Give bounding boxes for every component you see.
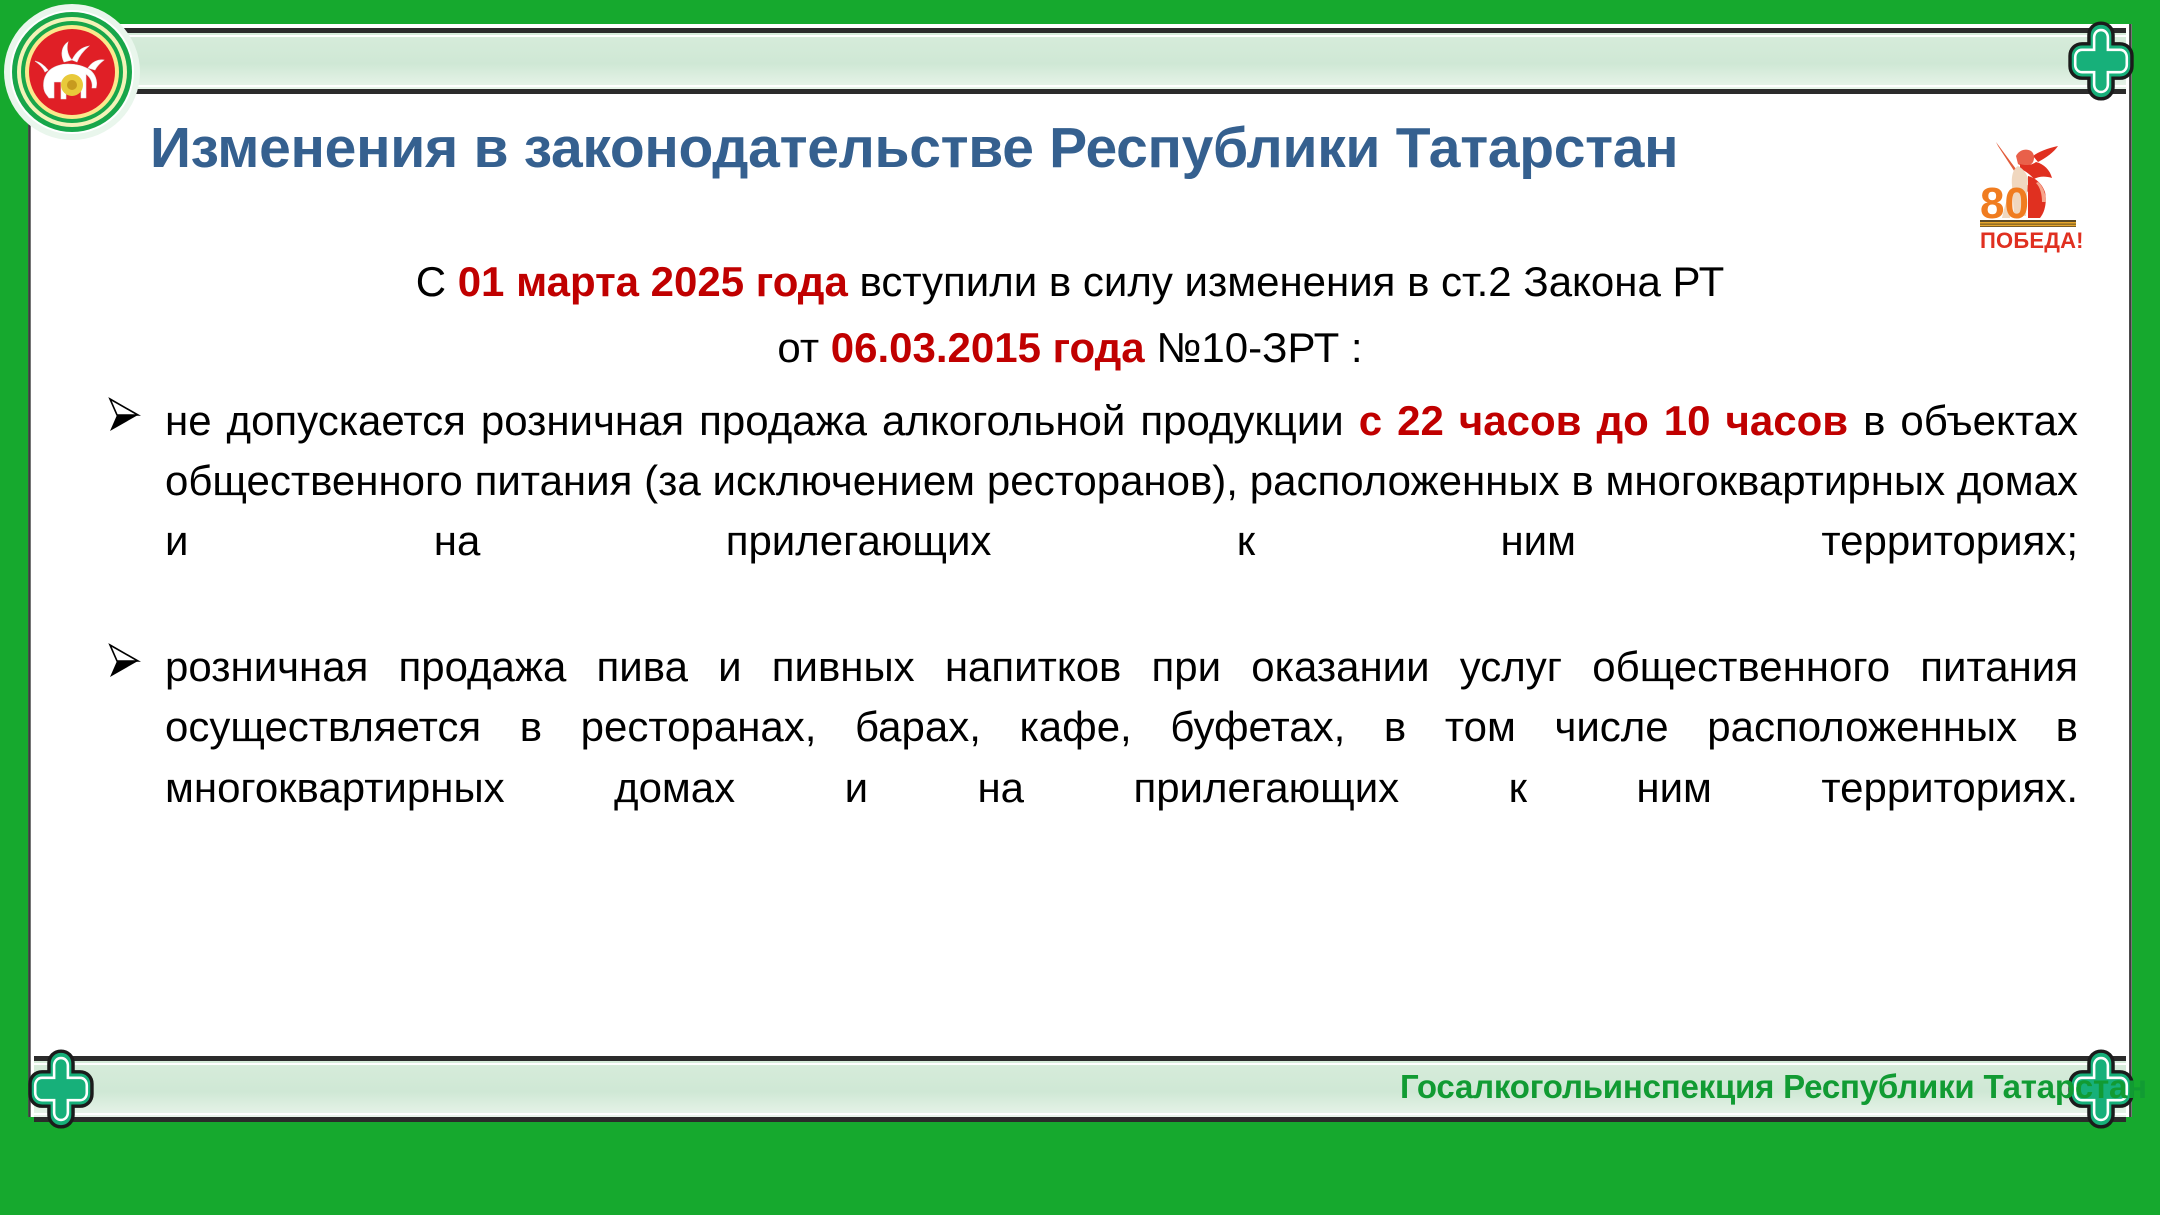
frame-top-green-bar (0, 0, 2160, 24)
page-title: Изменения в законодательстве Республики … (150, 118, 1940, 180)
lead-line-2: от 06.03.2015 года №10-ЗРТ : (70, 318, 2070, 378)
arrow-bullet-icon (102, 393, 146, 437)
lead-line-2-suffix: №10-ЗРТ : (1145, 324, 1363, 371)
list-item: не допускается розничная продажа алкогол… (40, 391, 2100, 631)
list-item: розничная продажа пива и пивных напитков… (40, 637, 2100, 877)
lead-paragraph: С 01 марта 2025 года вступили в силу изм… (40, 252, 2100, 377)
lead-line-2-highlight: 06.03.2015 года (831, 324, 1145, 371)
victory-80-logo-icon: 80 ПОБЕДА! (1950, 112, 2100, 262)
frame-bottom-green-bar (0, 1117, 2160, 1215)
tatarstan-coat-of-arms-icon: ТАТАРСТАН (2, 2, 142, 142)
bullet-1-part-1: не допускается розничная продажа алкогол… (165, 397, 1359, 444)
slide-body: С 01 марта 2025 года вступили в силу изм… (40, 252, 2100, 878)
bullet-2-part-1: розничная продажа пива и пивных напитков… (165, 643, 2078, 810)
frame-rule-left (28, 24, 31, 1117)
lead-line-1-highlight: 01 марта 2025 года (458, 258, 848, 305)
lead-line-1-prefix: С (416, 258, 458, 305)
lead-line-1-suffix: вступили в силу изменения в ст.2 Закона … (848, 258, 1724, 305)
bullet-list: не допускается розничная продажа алкогол… (40, 391, 2100, 877)
decorative-band-top (34, 28, 2126, 94)
arrow-bullet-icon (102, 639, 146, 683)
corner-ornament-icon-bottom-left (18, 1046, 104, 1132)
bullet-1-highlight: с 22 часов до 10 часов (1359, 397, 1848, 444)
frame-rule-right (2129, 24, 2132, 1117)
slide-root: ТАТАРСТАН Изменения в законодательстве Р… (0, 0, 2160, 1215)
lead-line-2-prefix: от (777, 324, 830, 371)
victory-word: ПОБЕДА! (1980, 228, 2084, 253)
footer-organization-label: Госалкогольинспекция Республики Татарста… (1400, 1068, 2040, 1106)
corner-ornament-icon-top-right (2058, 18, 2144, 104)
lead-line-1: С 01 марта 2025 года вступили в силу изм… (70, 252, 2070, 312)
victory-number: 80 (1980, 179, 2029, 228)
